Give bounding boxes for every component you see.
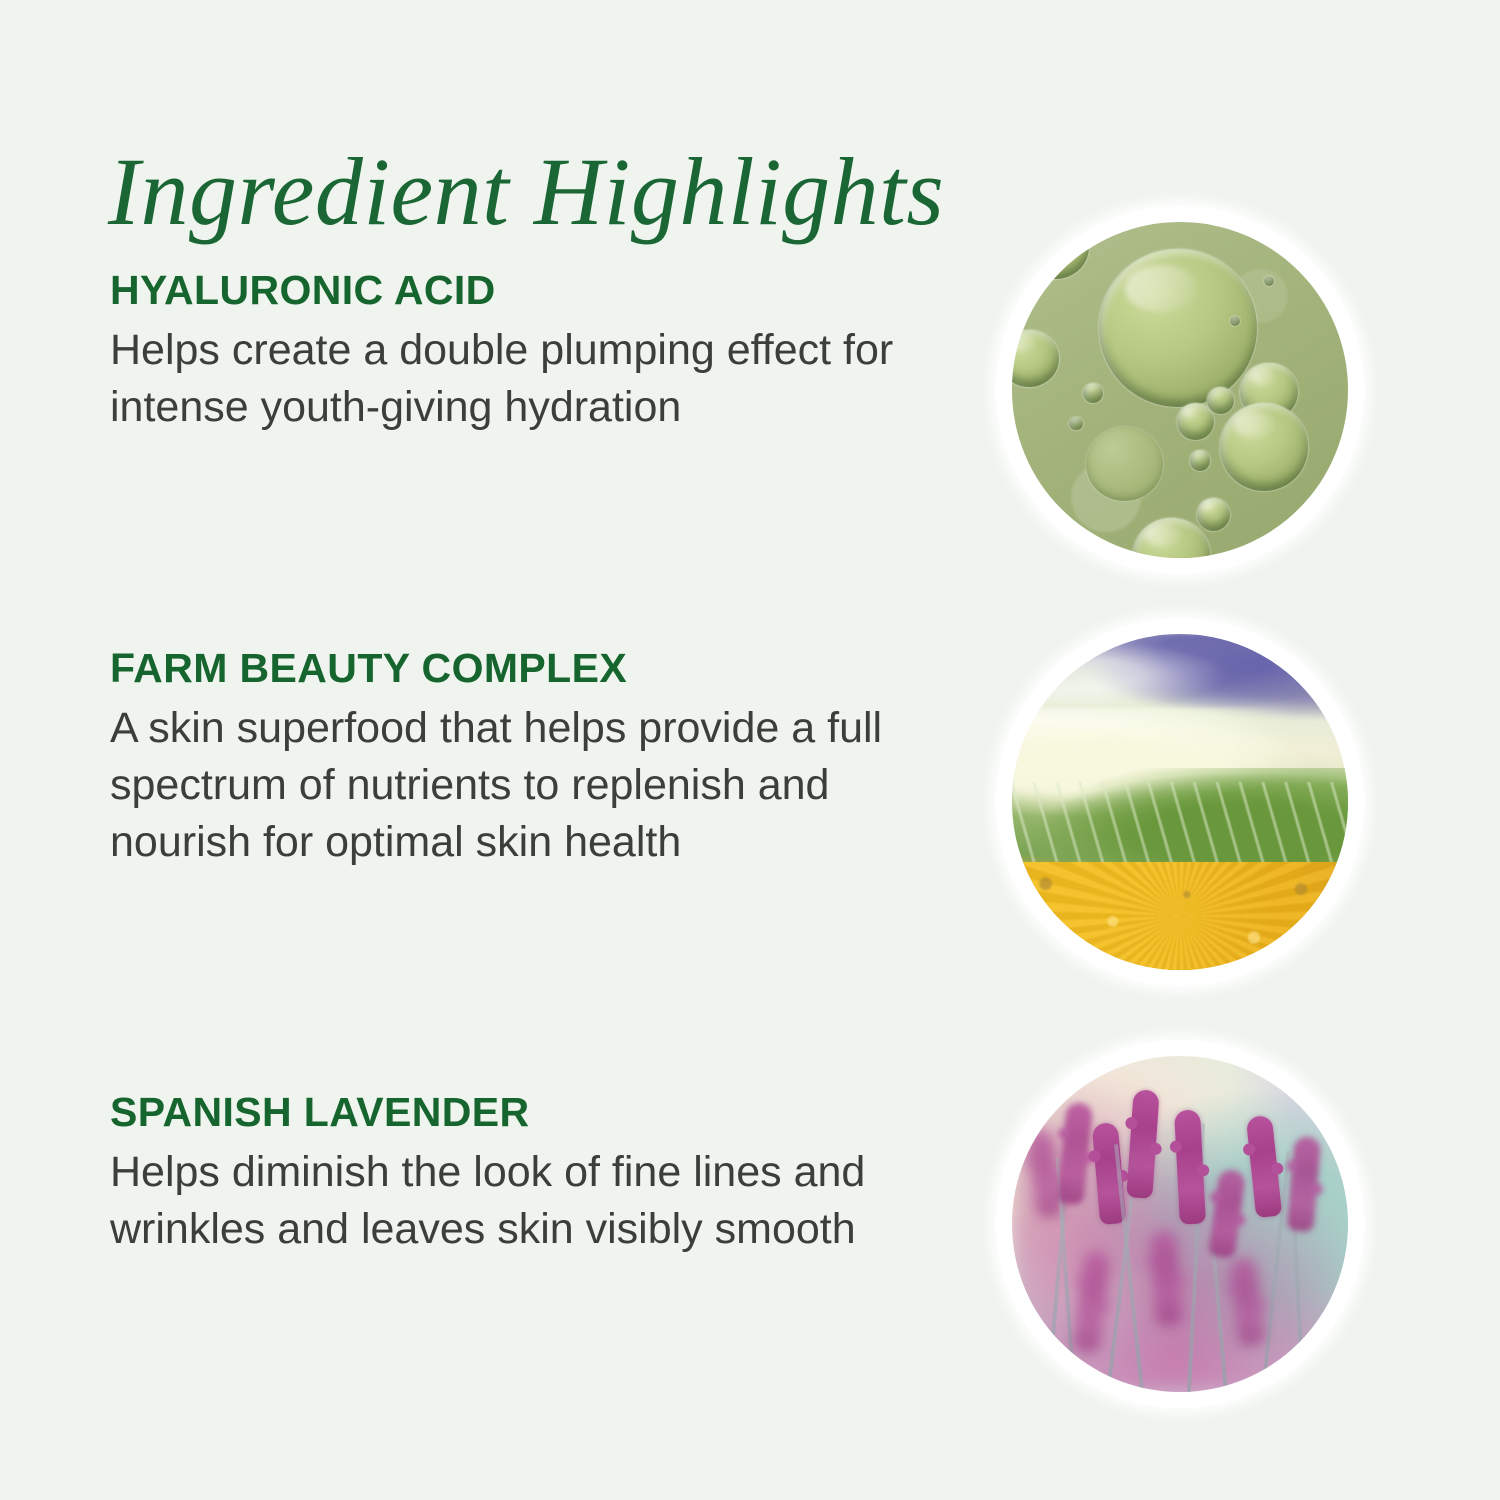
green-serum-bubbles-photo [1012,222,1348,558]
ingredient-description: Helps diminish the look of fine lines an… [110,1144,940,1258]
bubble-shape [1190,450,1210,470]
bubble-shape [1207,387,1234,414]
bubble-shape [1177,403,1214,440]
chamomile-texture [1012,862,1348,970]
farm-botanicals-photo [1012,634,1348,970]
page-title: Ingredient Highlights [108,142,944,243]
ingredient-block-farm-beauty-complex: FARM BEAUTY COMPLEX A skin superfood tha… [110,646,940,871]
ingredient-name: FARM BEAUTY COMPLEX [110,646,940,692]
lavender-spike [1174,1109,1206,1224]
ingredient-name: SPANISH LAVENDER [110,1090,940,1136]
bubble-shape [1220,403,1307,490]
bubble-shape [1012,330,1059,387]
ingredient-image-spanish-lavender [996,1040,1364,1408]
bubble-shape [1069,417,1082,430]
ingredient-highlights-page: Ingredient Highlights HYALURONIC ACID He… [0,0,1500,1500]
bubble-shape [1197,498,1231,532]
ingredient-image-farm-beauty-complex [996,618,1364,986]
bubble-shape [1099,249,1257,407]
ingredient-name: HYALURONIC ACID [110,268,940,314]
lavender-field-photo [1012,1056,1348,1392]
bubble-shape [1264,276,1274,286]
ingredient-description: A skin superfood that helps provide a fu… [110,700,940,872]
ingredient-block-spanish-lavender: SPANISH LAVENDER Helps diminish the look… [110,1090,940,1258]
bubble-shape [1133,518,1210,558]
bubble-shape [1086,427,1163,501]
ingredient-description: Helps create a double plumping effect fo… [110,322,940,436]
bubble-shape [1022,222,1089,279]
bubble-shape [1083,383,1103,403]
ingredient-block-hyaluronic-acid: HYALURONIC ACID Helps create a double pl… [110,268,940,436]
ingredient-image-hyaluronic-acid [996,206,1364,574]
